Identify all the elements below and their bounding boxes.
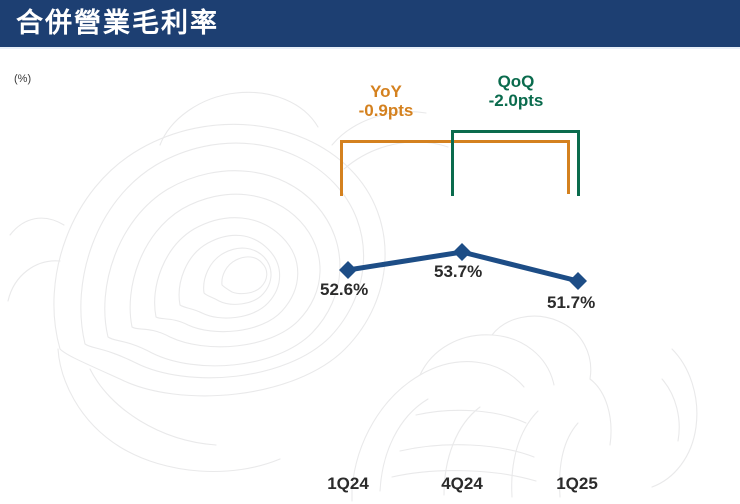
page-title: 合併營業毛利率	[16, 4, 219, 44]
title-bar-accent	[0, 47, 740, 49]
yoy-annotation-value: -0.9pts	[341, 101, 431, 120]
axis-label-4q24: 4Q24	[422, 474, 502, 494]
qoq-bracket	[451, 130, 580, 196]
data-label-4q24: 53.7%	[434, 262, 482, 282]
data-label-1q25: 51.7%	[547, 293, 595, 313]
qoq-annotation-title: QoQ	[471, 72, 561, 91]
series-marker-4q24	[453, 243, 471, 261]
axis-label-1q25: 1Q25	[537, 474, 617, 494]
qoq-bracket-right-leg	[577, 130, 580, 196]
axis-label-1q24: 1Q24	[308, 474, 388, 494]
data-label-1q24: 52.6%	[320, 280, 368, 300]
yoy-annotation-title: YoY	[341, 82, 431, 101]
yoy-annotation-label: YoY -0.9pts	[341, 82, 431, 120]
qoq-bracket-top	[451, 130, 580, 133]
yoy-bracket-left-leg	[340, 140, 343, 196]
qoq-annotation-label: QoQ -2.0pts	[471, 72, 561, 110]
series-marker-1q25	[569, 272, 587, 290]
qoq-annotation-value: -2.0pts	[471, 91, 561, 110]
series-marker-1q24	[339, 261, 357, 279]
slide-canvas: 合併營業毛利率 (%) YoY -0.9pts QoQ -2.0pts 52.	[0, 0, 740, 504]
qoq-bracket-left-leg	[451, 130, 454, 196]
